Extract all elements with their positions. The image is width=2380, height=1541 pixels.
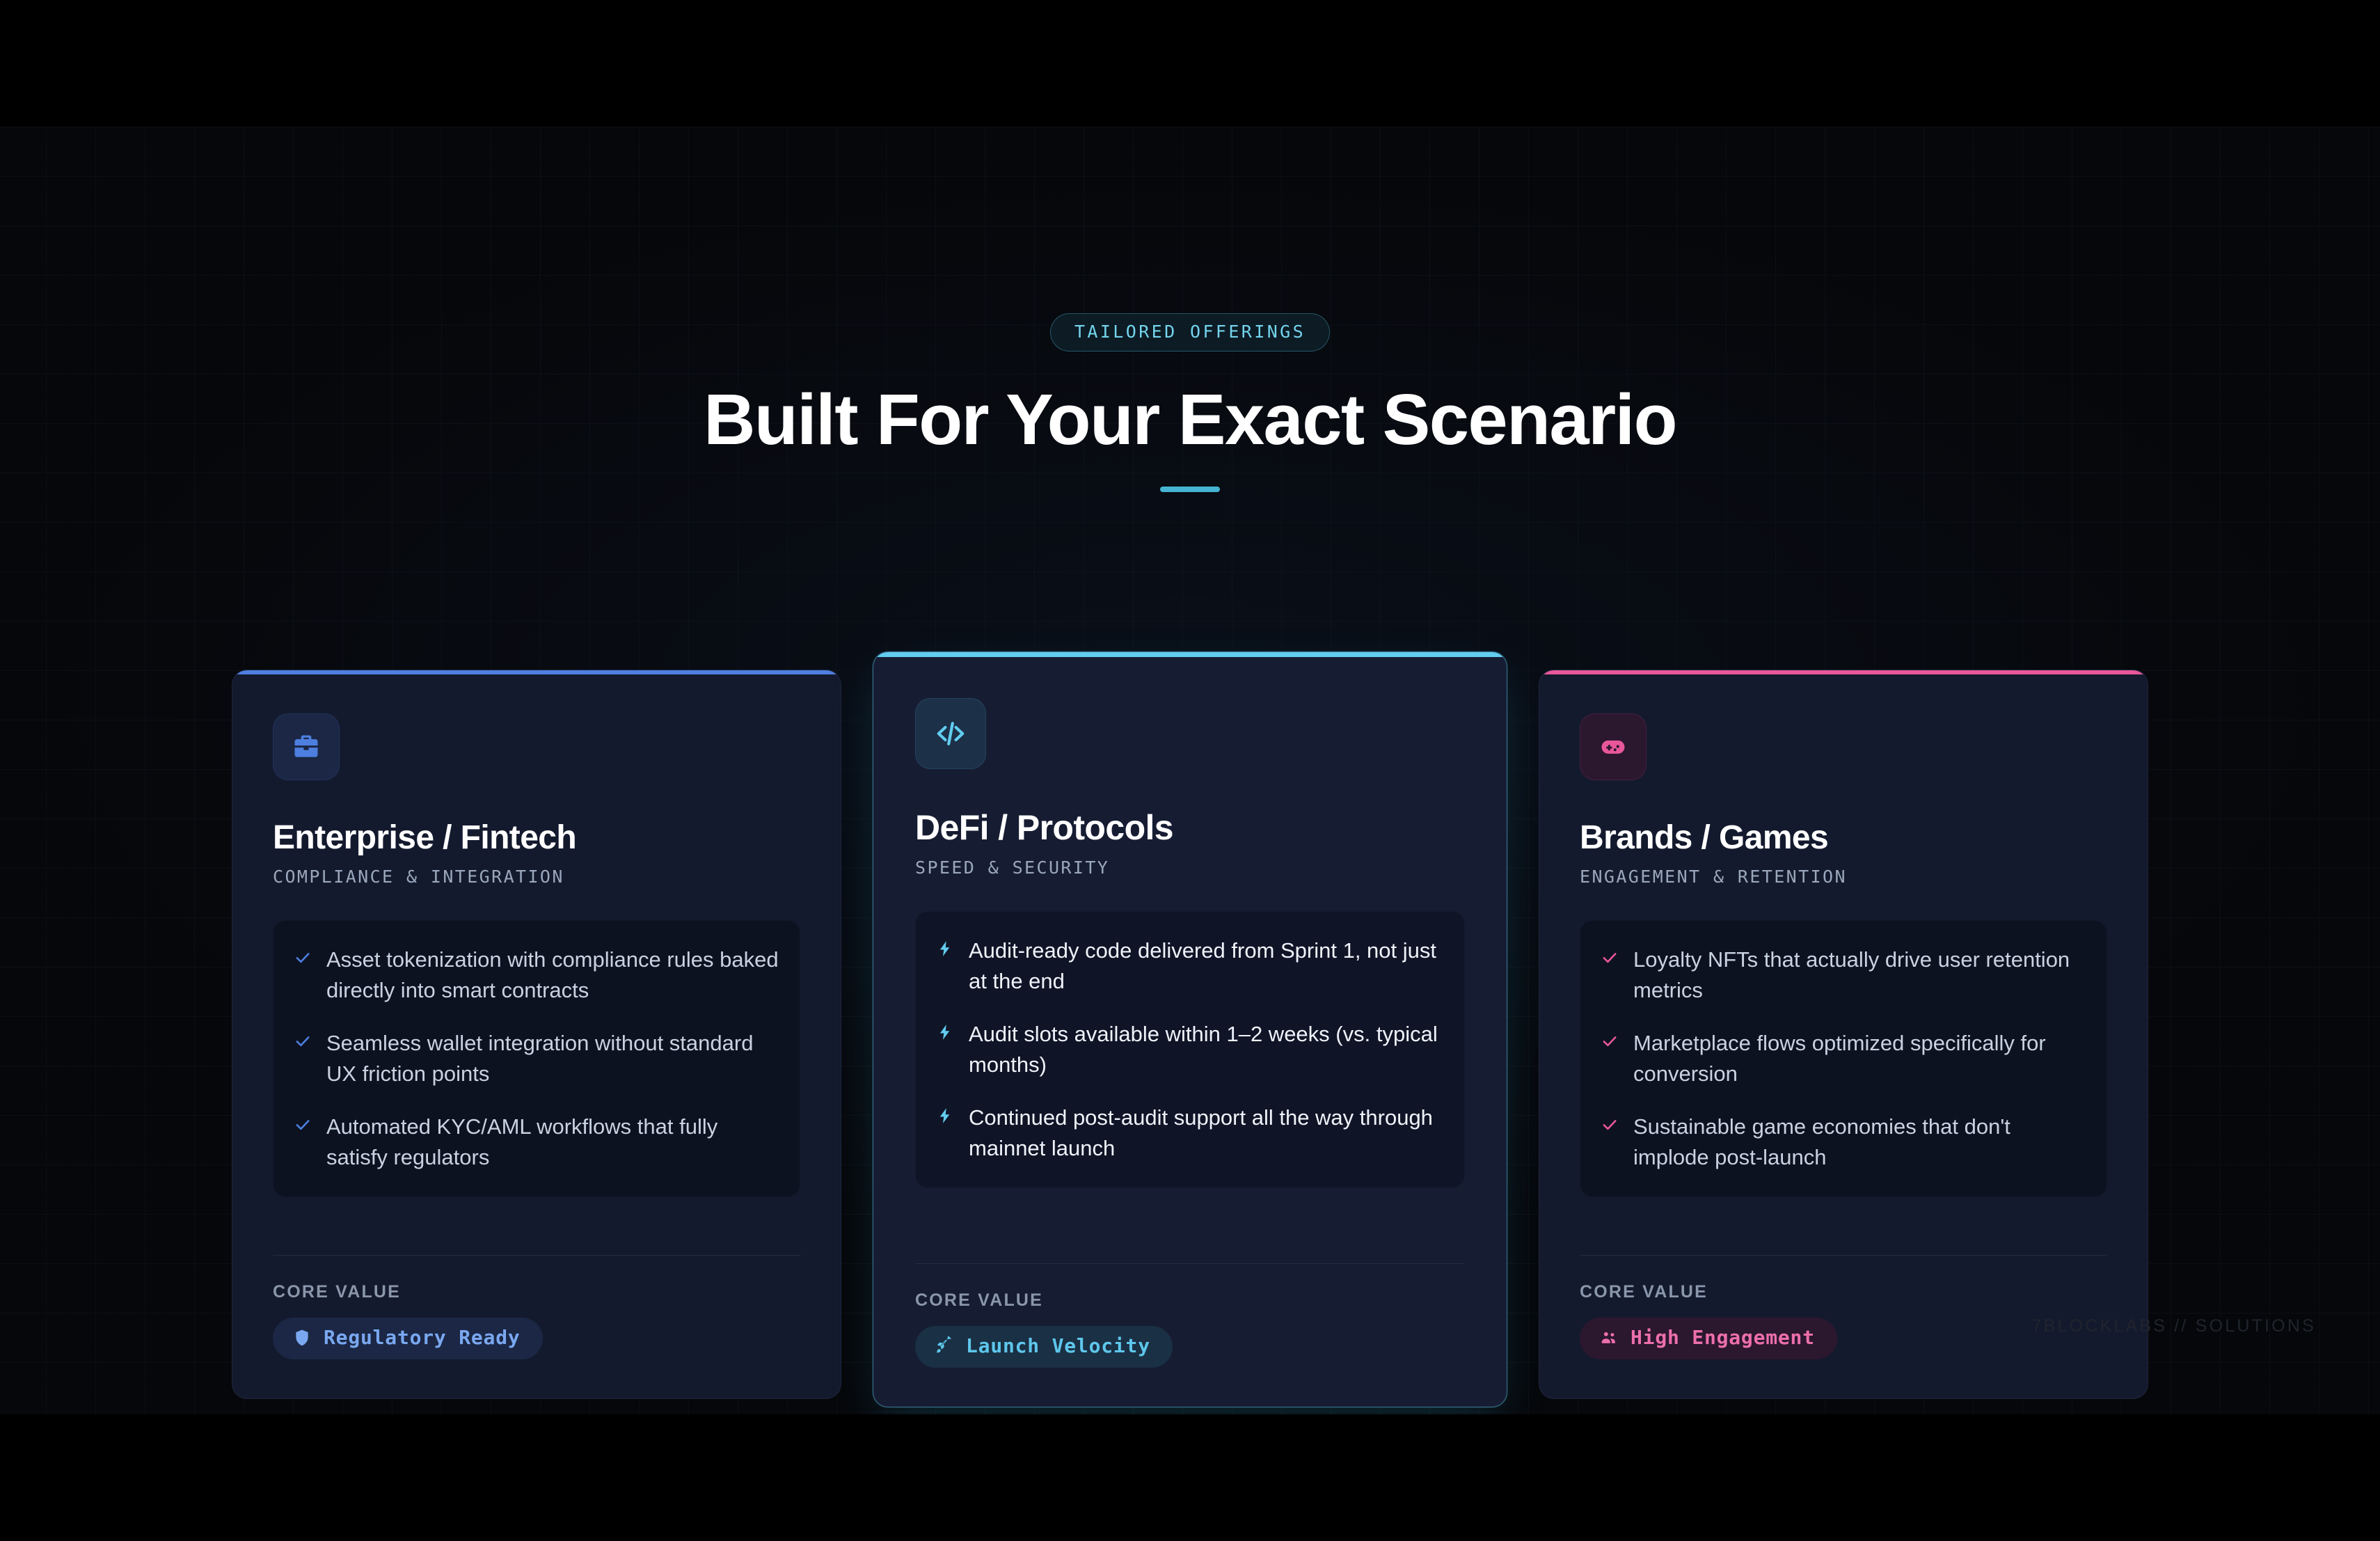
card-title: Brands / Games: [1580, 821, 2107, 855]
rocket-icon: [935, 1336, 954, 1356]
core-value-text: High Engagement: [1631, 1328, 1815, 1348]
card-accent-bar: [1539, 670, 2148, 674]
gamepad-icon-tile: [1580, 713, 1647, 780]
brand-watermark: 7BLOCKLABS // SOLUTIONS: [2032, 1316, 2316, 1336]
briefcase-icon-tile: [273, 713, 340, 780]
card-divider: [915, 1263, 1465, 1264]
letterbox-bottom: [0, 1414, 2380, 1541]
card-divider: [1580, 1255, 2107, 1256]
eyebrow-badge: TAILORED OFFERINGS: [1050, 313, 1330, 351]
feature-text: Audit-ready code delivered from Sprint 1…: [969, 935, 1443, 997]
code-brackets-icon-tile: [915, 698, 986, 769]
check-icon: [1600, 1116, 1619, 1134]
feature-list: Loyalty NFTs that actually drive user re…: [1580, 920, 2107, 1197]
code-brackets-icon: [934, 717, 967, 750]
offering-card-defi-protocols[interactable]: DeFi / ProtocolsSPEED & SECURITYAudit-re…: [873, 651, 1507, 1407]
feature-text: Continued post-audit support all the way…: [969, 1103, 1443, 1164]
feature-item: Seamless wallet integration without stan…: [293, 1028, 779, 1089]
feature-text: Loyalty NFTs that actually drive user re…: [1633, 945, 2086, 1006]
check-icon: [293, 1032, 312, 1050]
core-value-text: Launch Velocity: [966, 1336, 1150, 1356]
feature-list: Asset tokenization with compliance rules…: [273, 920, 800, 1197]
title-underline-rule: [1160, 487, 1220, 492]
offerings-card-row: Enterprise / FintechCOMPLIANCE & INTEGRA…: [232, 664, 2148, 1402]
offering-card-brands-games[interactable]: Brands / GamesENGAGEMENT & RETENTIONLoya…: [1539, 670, 2148, 1399]
feature-text: Sustainable game economies that don't im…: [1633, 1112, 2086, 1173]
core-value-label: CORE VALUE: [915, 1290, 1465, 1311]
check-icon: [1600, 949, 1619, 967]
card-accent-bar: [232, 670, 841, 674]
lightning-bolt-icon: [935, 940, 955, 958]
core-value-badge[interactable]: Regulatory Ready: [273, 1318, 543, 1359]
card-spacer: [1580, 1197, 2107, 1255]
core-value-label: CORE VALUE: [1580, 1282, 2107, 1302]
card-subtitle: COMPLIANCE & INTEGRATION: [273, 867, 800, 887]
card-subtitle: ENGAGEMENT & RETENTION: [1580, 867, 2107, 887]
core-value-pill-wrap: Regulatory Ready: [273, 1318, 800, 1398]
card-spacer: [273, 1197, 800, 1255]
feature-text: Automated KYC/AML workflows that fully s…: [326, 1112, 779, 1173]
core-value-text: Regulatory Ready: [324, 1328, 521, 1348]
core-value-badge[interactable]: Launch Velocity: [915, 1326, 1173, 1368]
briefcase-icon: [291, 732, 322, 762]
feature-item: Continued post-audit support all the way…: [935, 1103, 1443, 1164]
feature-text: Audit slots available within 1–2 weeks (…: [969, 1019, 1443, 1080]
users-icon: [1599, 1328, 1619, 1348]
feature-item: Sustainable game economies that don't im…: [1600, 1112, 2086, 1173]
page-stage: TAILORED OFFERINGS Built For Your Exact …: [0, 127, 2380, 1414]
feature-text: Seamless wallet integration without stan…: [326, 1028, 779, 1089]
core-value-pill-wrap: Launch Velocity: [915, 1326, 1465, 1407]
core-value-label: CORE VALUE: [273, 1282, 800, 1302]
feature-item: Asset tokenization with compliance rules…: [293, 945, 779, 1006]
lightning-bolt-icon: [935, 1107, 955, 1125]
card-divider: [273, 1255, 800, 1256]
card-title: DeFi / Protocols: [915, 809, 1465, 846]
core-value-badge[interactable]: High Engagement: [1580, 1318, 1837, 1359]
page-title: Built For Your Exact Scenario: [0, 382, 2380, 457]
feature-item: Marketplace flows optimized specifically…: [1600, 1028, 2086, 1089]
feature-text: Marketplace flows optimized specifically…: [1633, 1028, 2086, 1089]
letterbox-top: [0, 0, 2380, 127]
feature-item: Automated KYC/AML workflows that fully s…: [293, 1112, 779, 1173]
check-icon: [293, 949, 312, 967]
feature-list: Audit-ready code delivered from Sprint 1…: [915, 911, 1465, 1188]
card-spacer: [915, 1188, 1465, 1263]
card-subtitle: SPEED & SECURITY: [915, 858, 1465, 878]
check-icon: [1600, 1032, 1619, 1050]
check-icon: [293, 1116, 312, 1134]
card-title: Enterprise / Fintech: [273, 821, 800, 855]
section-header: TAILORED OFFERINGS Built For Your Exact …: [0, 313, 2380, 492]
card-accent-bar: [873, 652, 1507, 657]
core-value-pill-wrap: High Engagement: [1580, 1318, 2107, 1398]
shield-icon: [292, 1328, 312, 1348]
feature-item: Loyalty NFTs that actually drive user re…: [1600, 945, 2086, 1006]
feature-item: Audit-ready code delivered from Sprint 1…: [935, 935, 1443, 997]
gamepad-icon: [1598, 732, 1628, 762]
offering-card-enterprise-fintech[interactable]: Enterprise / FintechCOMPLIANCE & INTEGRA…: [232, 670, 841, 1399]
feature-text: Asset tokenization with compliance rules…: [326, 945, 779, 1006]
feature-item: Audit slots available within 1–2 weeks (…: [935, 1019, 1443, 1080]
lightning-bolt-icon: [935, 1023, 955, 1041]
